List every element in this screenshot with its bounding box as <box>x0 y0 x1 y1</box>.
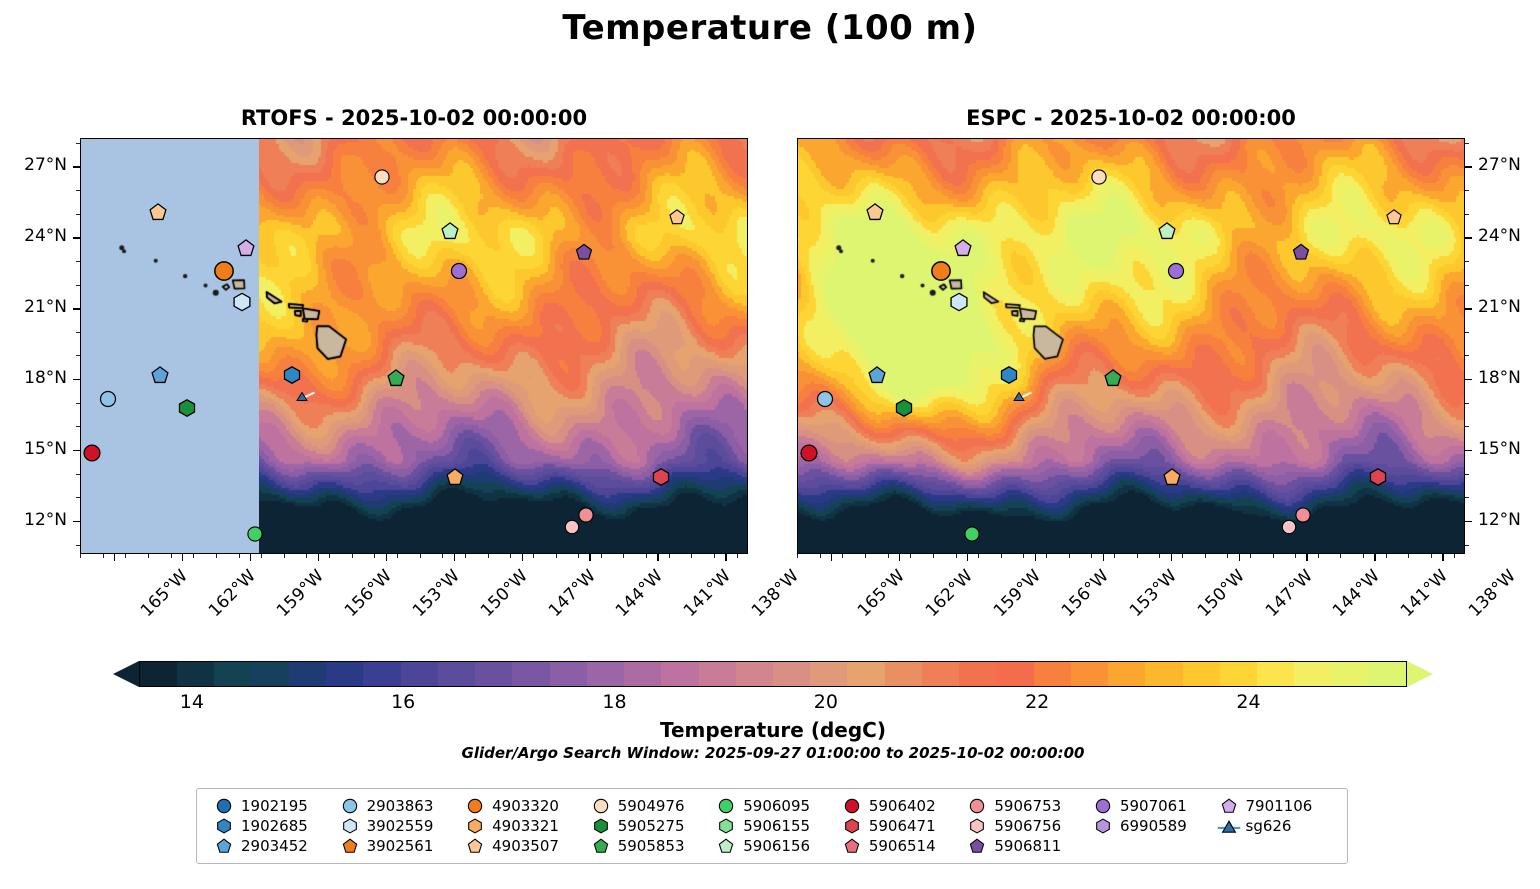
y-minor-tick <box>1465 261 1469 262</box>
argo-float-marker[interactable] <box>949 292 969 312</box>
x-tick-label: 153°W <box>1126 566 1181 621</box>
colorbar-segment <box>363 662 400 686</box>
x-minor-tick <box>397 554 398 558</box>
y-minor-tick <box>1465 332 1469 333</box>
legend-marker-icon <box>333 798 367 814</box>
y-minor-tick <box>1465 285 1469 286</box>
x-tick <box>250 554 251 561</box>
argo-float-marker[interactable] <box>1292 243 1310 261</box>
argo-float-marker[interactable] <box>1368 468 1387 487</box>
legend-item[interactable]: 5906753 <box>960 797 1086 815</box>
x-minor-tick <box>933 554 934 558</box>
legend-label: 5904976 <box>618 797 685 815</box>
legend-item[interactable]: sg626 <box>1212 817 1338 835</box>
legend-item[interactable]: 2903452 <box>207 837 333 855</box>
colorbar-segment <box>177 662 214 686</box>
x-tick <box>1035 554 1036 561</box>
colorbar-extend-min <box>113 661 139 687</box>
y-minor-tick <box>76 379 80 380</box>
x-tick <box>899 554 900 561</box>
x-tick <box>182 554 183 561</box>
y-minor-tick <box>1465 190 1469 191</box>
argo-float-marker[interactable] <box>868 366 887 385</box>
legend-item[interactable]: 2903863 <box>333 797 459 815</box>
legend-item[interactable]: 5906402 <box>835 797 961 815</box>
temperature-field-espc <box>798 139 1464 553</box>
y-minor-tick <box>1465 308 1469 309</box>
x-minor-tick <box>1159 554 1160 558</box>
legend-label: 7901106 <box>1246 797 1313 815</box>
x-minor-tick <box>488 554 489 558</box>
legend-marker-icon <box>333 838 367 854</box>
y-minor-tick <box>76 474 80 475</box>
x-tick <box>522 554 523 561</box>
x-minor-tick <box>329 554 330 558</box>
glider-marker-sg626[interactable] <box>1012 387 1032 407</box>
y-tick-label: 21°N <box>1478 297 1521 317</box>
x-minor-tick <box>510 554 511 558</box>
argo-float-marker[interactable] <box>213 260 235 282</box>
x-tick <box>725 554 726 561</box>
x-minor-tick <box>1205 554 1206 558</box>
argo-float-marker[interactable] <box>668 209 685 226</box>
legend-label: 2903863 <box>367 797 434 815</box>
x-minor-tick <box>1340 554 1341 558</box>
legend-marker-icon <box>709 838 743 854</box>
x-minor-tick <box>1408 554 1409 558</box>
colorbar-segment <box>773 662 810 686</box>
colorbar-segment <box>1220 662 1257 686</box>
legend-label: 5906811 <box>994 837 1061 855</box>
legend-marker-icon <box>584 818 618 834</box>
y-minor-tick <box>76 190 80 191</box>
argo-float-marker[interactable] <box>282 366 301 385</box>
argo-float-marker[interactable] <box>445 468 464 487</box>
x-minor-tick <box>1273 554 1274 558</box>
argo-float-marker[interactable] <box>450 262 468 280</box>
figure-title: Temperature (100 m) <box>0 8 1540 48</box>
x-tick <box>454 554 455 561</box>
x-tick-label: 150°W <box>477 566 532 621</box>
legend-marker-icon <box>960 838 994 854</box>
legend-marker-icon <box>458 818 492 834</box>
argo-float-marker[interactable] <box>237 238 256 257</box>
map-panel-espc[interactable] <box>797 138 1465 554</box>
colorbar-segment <box>401 662 438 686</box>
legend-label: 5906753 <box>994 797 1061 815</box>
x-minor-tick <box>193 554 194 558</box>
argo-float-marker[interactable] <box>1167 262 1185 280</box>
x-minor-tick <box>978 554 979 558</box>
x-minor-tick <box>601 554 602 558</box>
argo-float-marker[interactable] <box>441 222 460 241</box>
x-minor-tick <box>956 554 957 558</box>
x-minor-tick <box>1250 554 1251 558</box>
x-tick-label: 162°W <box>922 566 977 621</box>
y-tick-label: 15°N <box>24 439 67 459</box>
colorbar-segment <box>1145 662 1182 686</box>
x-tick <box>831 554 832 561</box>
x-minor-tick <box>1023 554 1024 558</box>
x-minor-tick <box>171 554 172 558</box>
x-tick <box>1103 554 1104 561</box>
x-minor-tick <box>1091 554 1092 558</box>
y-tick-label: 12°N <box>24 510 67 530</box>
x-tick-label: 138°W <box>1465 566 1520 621</box>
y-minor-tick <box>76 332 80 333</box>
colorbar-segment <box>252 662 289 686</box>
argo-float-marker[interactable] <box>1281 519 1297 535</box>
x-minor-tick <box>148 554 149 558</box>
x-tick-label: 159°W <box>273 566 328 621</box>
colorbar-segment <box>847 662 884 686</box>
y-minor-tick <box>1465 355 1469 356</box>
colorbar-segment <box>1183 662 1220 686</box>
y-minor-tick <box>76 426 80 427</box>
legend-item[interactable]: 7901106 <box>1212 797 1338 815</box>
x-tick-label: 156°W <box>341 566 396 621</box>
x-minor-tick <box>125 554 126 558</box>
legend-label: 1902195 <box>241 797 308 815</box>
y-minor-tick <box>76 261 80 262</box>
x-minor-tick <box>239 554 240 558</box>
argo-float-marker[interactable] <box>816 390 834 408</box>
legend-label: 5906402 <box>869 797 936 815</box>
colorbar-tick-label: 20 <box>814 691 838 713</box>
x-minor-tick <box>80 554 81 558</box>
y-minor-tick <box>76 497 80 498</box>
x-minor-tick <box>465 554 466 558</box>
legend-item[interactable]: 3902561 <box>333 837 459 855</box>
glider-marker-sg626[interactable] <box>295 387 315 407</box>
x-minor-tick <box>1386 554 1387 558</box>
x-minor-tick <box>374 554 375 558</box>
x-minor-tick <box>533 554 534 558</box>
search-window-caption: Glider/Argo Search Window: 2025-09-27 01… <box>113 744 1433 762</box>
y-minor-tick <box>76 166 80 167</box>
argo-float-marker[interactable] <box>1158 222 1177 241</box>
y-minor-tick <box>1465 474 1469 475</box>
y-minor-tick <box>1465 403 1469 404</box>
y-minor-tick <box>1465 143 1469 144</box>
x-minor-tick <box>1001 554 1002 558</box>
colorbar-tick-label: 14 <box>180 691 204 713</box>
legend-label: 4903507 <box>492 837 559 855</box>
map-panel-rtofs[interactable] <box>80 138 748 554</box>
colorbar-segment <box>1332 662 1369 686</box>
y-minor-tick <box>1465 545 1469 546</box>
legend-item[interactable]: 5906756 <box>960 817 1086 835</box>
colorbar-segment <box>326 662 363 686</box>
y-minor-tick <box>76 355 80 356</box>
legend-label: 2903452 <box>241 837 308 855</box>
legend-label: sg626 <box>1246 817 1292 835</box>
argo-float-marker[interactable] <box>83 444 102 463</box>
colorbar-segment <box>699 662 736 686</box>
argo-float-marker[interactable] <box>1091 168 1108 185</box>
legend-label: 5906095 <box>743 797 810 815</box>
legend-item[interactable]: 5906156 <box>709 837 835 855</box>
x-minor-tick <box>1114 554 1115 558</box>
y-tick-label: 21°N <box>24 297 67 317</box>
y-minor-tick <box>76 308 80 309</box>
legend-label: 4903320 <box>492 797 559 815</box>
colorbar-tick-label: 24 <box>1236 691 1260 713</box>
legend-marker-icon <box>207 818 241 834</box>
legend-label: 5905853 <box>618 837 685 855</box>
legend-item[interactable]: 5906155 <box>709 817 835 835</box>
legend-item[interactable]: 5906471 <box>835 817 961 835</box>
x-tick-label: 141°W <box>1397 566 1452 621</box>
y-minor-tick <box>76 143 80 144</box>
legend-item[interactable]: 1902685 <box>207 817 333 835</box>
x-minor-tick <box>556 554 557 558</box>
colorbar-extend-max <box>1407 661 1433 687</box>
x-tick <box>114 554 115 561</box>
legend-label: 5906156 <box>743 837 810 855</box>
argo-float-marker[interactable] <box>954 238 973 257</box>
legend-row: 1902685390255949033215905275590615559064… <box>207 816 1337 836</box>
x-minor-tick <box>1182 554 1183 558</box>
x-minor-tick <box>1454 554 1455 558</box>
argo-float-marker[interactable] <box>386 368 405 387</box>
x-minor-tick <box>1363 554 1364 558</box>
colorbar-segment <box>550 662 587 686</box>
colorbar-title: Temperature (degC) <box>113 718 1433 742</box>
x-minor-tick <box>691 554 692 558</box>
x-tick-label: 165°W <box>854 566 909 621</box>
figure-root: Temperature (100 m) RTOFS - 2025-10-02 0… <box>0 0 1540 889</box>
y-tick-label: 27°N <box>24 155 67 175</box>
legend-marker-icon <box>584 798 618 814</box>
x-minor-tick <box>578 554 579 558</box>
x-minor-tick <box>1069 554 1070 558</box>
colorbar-gradient <box>139 661 1407 687</box>
legend-marker-icon <box>1212 819 1246 834</box>
y-minor-tick <box>76 521 80 522</box>
y-minor-tick <box>76 450 80 451</box>
x-minor-tick <box>103 554 104 558</box>
x-minor-tick <box>1431 554 1432 558</box>
legend-label: 5905275 <box>618 817 685 835</box>
y-tick-label: 18°N <box>24 368 67 388</box>
x-tick <box>657 554 658 561</box>
x-tick-label: 153°W <box>409 566 464 621</box>
x-minor-tick <box>714 554 715 558</box>
colorbar-segment <box>587 662 624 686</box>
colorbar-segment <box>1034 662 1071 686</box>
argo-float-marker[interactable] <box>564 519 580 535</box>
colorbar-segment <box>1071 662 1108 686</box>
y-minor-tick <box>76 214 80 215</box>
legend-label: 1902685 <box>241 817 308 835</box>
legend-label: 3902561 <box>367 837 434 855</box>
legend-item[interactable]: 4903320 <box>458 797 584 815</box>
legend-marker-icon <box>709 798 743 814</box>
x-tick <box>1442 554 1443 561</box>
legend-label: 5907061 <box>1120 797 1187 815</box>
argo-float-marker[interactable] <box>999 366 1018 385</box>
x-tick-label: 141°W <box>680 566 735 621</box>
x-minor-tick <box>1046 554 1047 558</box>
legend: 1902195290386349033205904976590609559064… <box>196 788 1348 864</box>
argo-float-marker[interactable] <box>800 444 819 463</box>
x-minor-tick <box>306 554 307 558</box>
x-tick-label: 138°W <box>748 566 803 621</box>
x-minor-tick <box>888 554 889 558</box>
colorbar-segment <box>810 662 847 686</box>
x-tick <box>1374 554 1375 561</box>
x-minor-tick <box>865 554 866 558</box>
legend-marker-icon <box>1086 798 1120 814</box>
legend-marker-icon <box>1212 798 1246 814</box>
legend-marker-icon <box>835 798 869 814</box>
colorbar-segment <box>214 662 251 686</box>
argo-float-marker[interactable] <box>151 366 170 385</box>
x-minor-tick <box>737 554 738 558</box>
legend-marker-icon <box>709 818 743 834</box>
x-minor-tick <box>1295 554 1296 558</box>
colorbar-segment <box>661 662 698 686</box>
y-minor-tick <box>1465 237 1469 238</box>
legend-marker-icon <box>207 798 241 814</box>
y-minor-tick <box>1465 426 1469 427</box>
argo-float-marker[interactable] <box>374 168 391 185</box>
x-minor-tick <box>216 554 217 558</box>
legend-item[interactable]: 5906811 <box>960 837 1086 855</box>
x-tick-label: 150°W <box>1194 566 1249 621</box>
colorbar-segment <box>885 662 922 686</box>
x-tick <box>386 554 387 561</box>
x-minor-tick <box>442 554 443 558</box>
colorbar-segment <box>624 662 661 686</box>
x-tick-label: 159°W <box>990 566 1045 621</box>
x-tick-label: 147°W <box>544 566 599 621</box>
argo-float-marker[interactable] <box>178 399 197 418</box>
legend-label: 5906514 <box>869 837 936 855</box>
colorbar-segment <box>475 662 512 686</box>
x-minor-tick <box>646 554 647 558</box>
legend-label: 5906756 <box>994 817 1061 835</box>
x-minor-tick <box>1227 554 1228 558</box>
x-minor-tick <box>820 554 821 558</box>
y-tick-label: 18°N <box>1478 368 1521 388</box>
y-minor-tick <box>1465 214 1469 215</box>
y-minor-tick <box>1465 379 1469 380</box>
colorbar-segment <box>140 662 177 686</box>
argo-float-marker[interactable] <box>247 525 264 542</box>
y-tick-label: 27°N <box>1478 155 1521 175</box>
legend-marker-icon <box>458 798 492 814</box>
legend-row: 2903452390256149035075905853590615659065… <box>207 836 1337 856</box>
argo-float-marker[interactable] <box>895 399 914 418</box>
legend-label: 4903321 <box>492 817 559 835</box>
legend-marker-icon <box>1086 818 1120 834</box>
argo-float-marker[interactable] <box>964 525 981 542</box>
x-tick <box>1306 554 1307 561</box>
y-tick-label: 24°N <box>24 226 67 246</box>
x-minor-tick <box>261 554 262 558</box>
legend-marker-icon <box>584 838 618 854</box>
y-tick-label: 12°N <box>1478 510 1521 530</box>
argo-float-marker[interactable] <box>1385 209 1402 226</box>
argo-float-marker[interactable] <box>232 292 252 312</box>
legend-item[interactable]: 4903507 <box>458 837 584 855</box>
x-tick-label: 156°W <box>1058 566 1113 621</box>
x-tick-label: 144°W <box>612 566 667 621</box>
legend-marker-icon <box>835 838 869 854</box>
argo-float-marker[interactable] <box>575 243 593 261</box>
legend-item[interactable]: 5905275 <box>584 817 710 835</box>
argo-float-marker[interactable] <box>651 468 670 487</box>
colorbar-segment <box>512 662 549 686</box>
legend-item[interactable]: 5904976 <box>584 797 710 815</box>
colorbar-segment <box>736 662 773 686</box>
legend-item[interactable]: 5907061 <box>1086 797 1212 815</box>
x-tick-label: 147°W <box>1261 566 1316 621</box>
legend-item[interactable]: 1902195 <box>207 797 333 815</box>
colorbar-segment <box>996 662 1033 686</box>
legend-label: 5906155 <box>743 817 810 835</box>
legend-item[interactable]: 3902559 <box>333 817 459 835</box>
legend-item[interactable]: 5906095 <box>709 797 835 815</box>
colorbar-tick-label: 18 <box>602 691 626 713</box>
x-tick-label: 162°W <box>205 566 260 621</box>
legend-item[interactable]: 5906514 <box>835 837 961 855</box>
x-minor-tick <box>842 554 843 558</box>
legend-marker-icon <box>458 838 492 854</box>
legend-item[interactable]: 6990589 <box>1086 817 1212 835</box>
panel-title-rtofs: RTOFS - 2025-10-02 00:00:00 <box>80 106 748 130</box>
x-tick <box>1239 554 1240 561</box>
y-tick-label: 15°N <box>1478 439 1521 459</box>
legend-label: 6990589 <box>1120 817 1187 835</box>
x-minor-tick <box>623 554 624 558</box>
argo-float-marker[interactable] <box>99 390 117 408</box>
argo-float-marker[interactable] <box>1103 368 1122 387</box>
argo-float-marker[interactable] <box>865 203 884 222</box>
colorbar-segment <box>438 662 475 686</box>
y-minor-tick <box>76 237 80 238</box>
y-minor-tick <box>76 545 80 546</box>
y-minor-tick <box>76 285 80 286</box>
colorbar-tick-label: 16 <box>391 691 415 713</box>
legend-marker-icon <box>333 818 367 834</box>
colorbar-segment <box>1257 662 1294 686</box>
coastline-overlay <box>81 139 747 553</box>
colorbar-segment <box>1369 662 1406 686</box>
x-minor-tick <box>669 554 670 558</box>
x-minor-tick <box>797 554 798 558</box>
x-minor-tick <box>910 554 911 558</box>
colorbar-tick-label: 22 <box>1025 691 1049 713</box>
legend-label: 3902559 <box>367 817 434 835</box>
y-minor-tick <box>1465 521 1469 522</box>
legend-item[interactable]: 5905853 <box>584 837 710 855</box>
x-tick <box>589 554 590 561</box>
colorbar-segment <box>1294 662 1331 686</box>
legend-item[interactable]: 4903321 <box>458 817 584 835</box>
legend-label: 5906471 <box>869 817 936 835</box>
x-tick <box>967 554 968 561</box>
x-minor-tick <box>284 554 285 558</box>
y-minor-tick <box>1465 497 1469 498</box>
argo-float-marker[interactable] <box>930 260 952 282</box>
y-minor-tick <box>1465 450 1469 451</box>
legend-row: 1902195290386349033205904976590609559064… <box>207 796 1337 816</box>
argo-float-marker[interactable] <box>1162 468 1181 487</box>
argo-float-marker[interactable] <box>148 203 167 222</box>
